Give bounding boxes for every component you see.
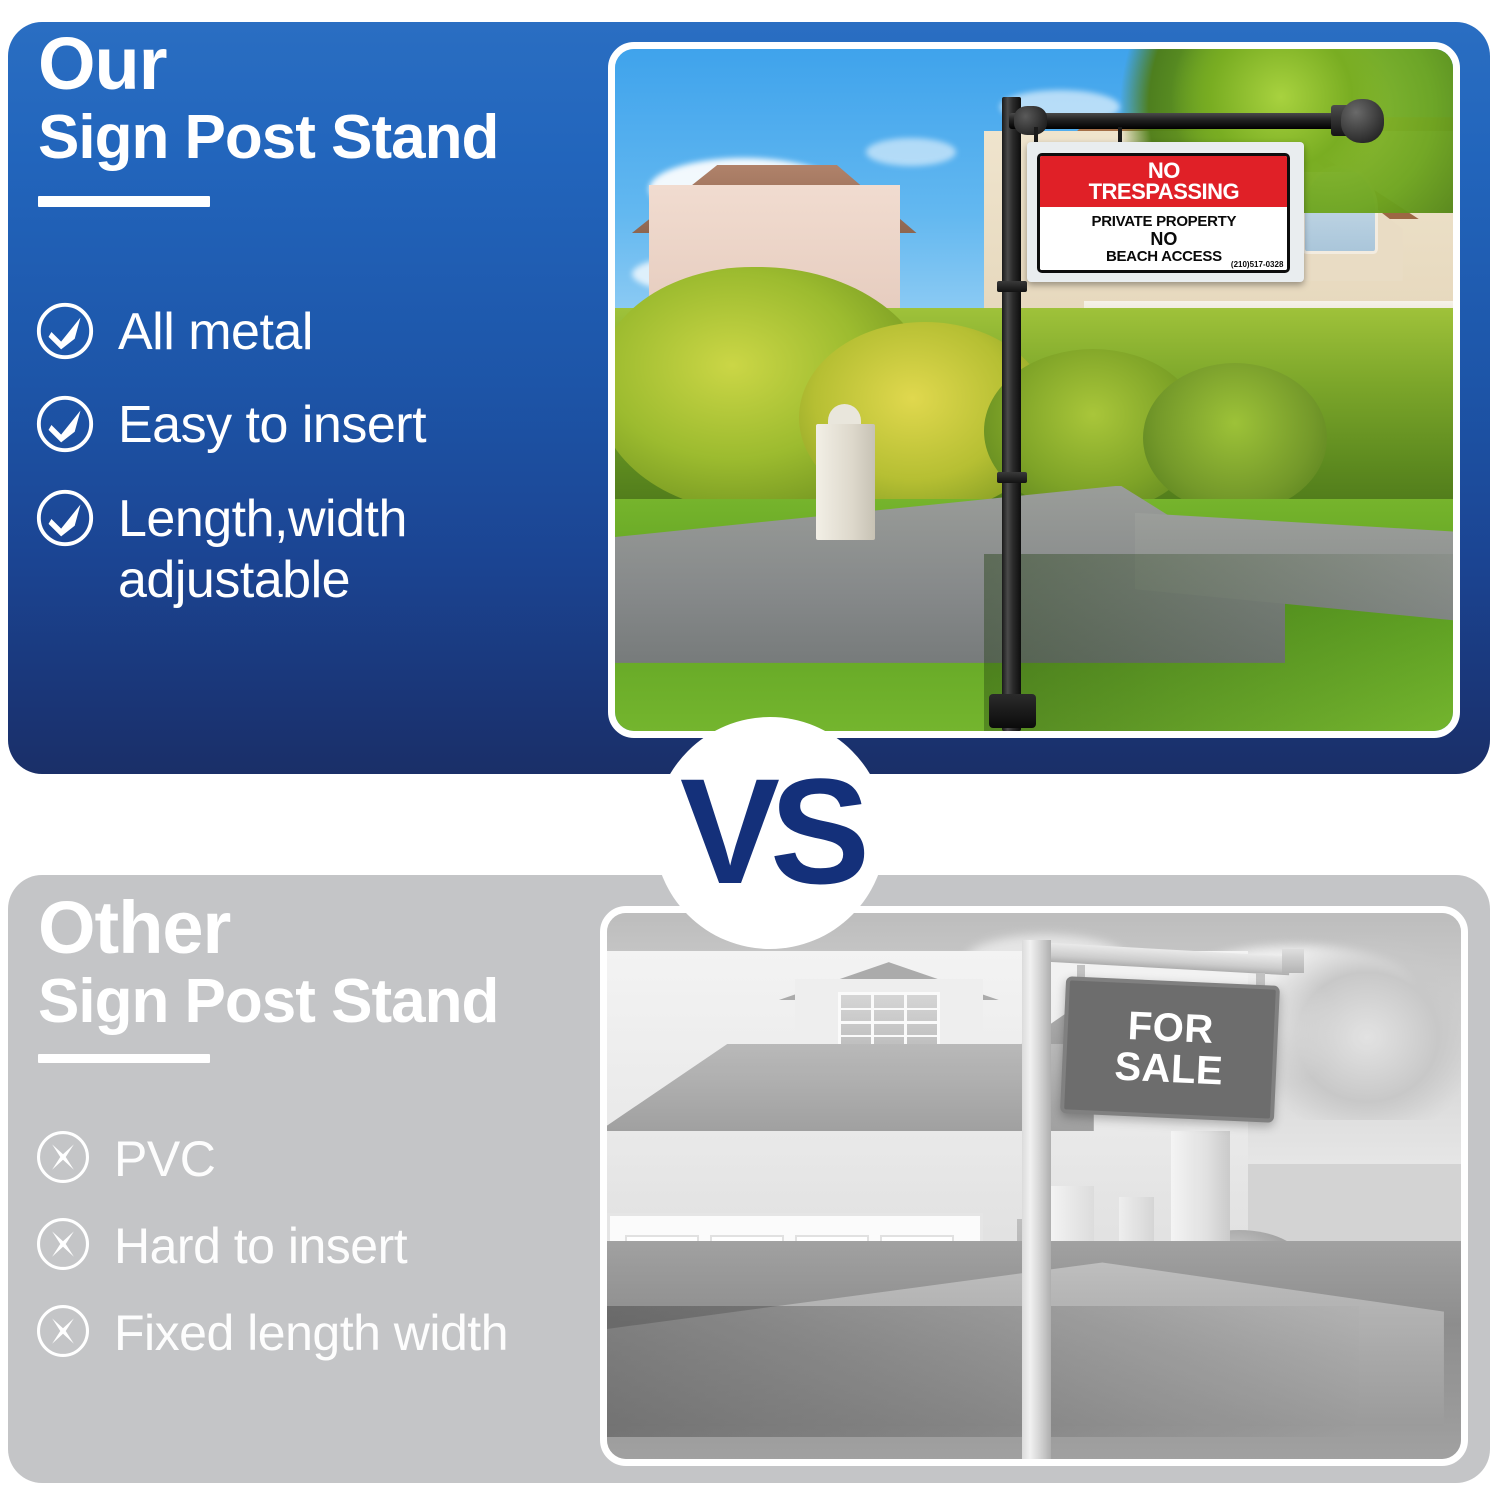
versus-badge: VS <box>654 717 886 949</box>
list-item: Hard to insert <box>34 1215 594 1276</box>
post-collar <box>997 472 1027 483</box>
x-circle-icon <box>34 1128 92 1186</box>
sign-phone-number: (210)517-0328 <box>1231 260 1283 269</box>
list-item: Fixed length width <box>34 1302 594 1363</box>
our-product-photo: NO TRESPASSING PRIVATE PROPERTY NO BEACH… <box>608 42 1460 738</box>
post-cross-arm <box>1009 113 1369 129</box>
list-item: PVC <box>34 1128 594 1189</box>
feature-label: Hard to insert <box>114 1215 407 1276</box>
dormer-window <box>838 992 940 1052</box>
list-item: Length,width adjustable <box>34 487 594 612</box>
other-panel-title: Other Sign Post Stand <box>38 892 498 1063</box>
lawn-shadow <box>607 1306 1359 1437</box>
sign-headline: NO TRESPASSING <box>1040 156 1287 207</box>
sign-body: PRIVATE PROPERTY NO BEACH ACCESS (210)51… <box>1040 207 1287 270</box>
check-circle-icon <box>34 300 96 362</box>
sign-headline-line2: TRESPASSING <box>1042 181 1285 202</box>
metal-sign-post <box>1002 97 1021 731</box>
other-title-line1: Other <box>38 892 498 965</box>
no-trespassing-sign: NO TRESPASSING PRIVATE PROPERTY NO BEACH… <box>1037 153 1290 273</box>
other-title-underline <box>38 1054 210 1063</box>
feature-label: Easy to insert <box>118 393 426 456</box>
sign-body-line1: PRIVATE PROPERTY <box>1040 213 1287 230</box>
feature-label: Length,width adjustable <box>118 487 594 612</box>
for-sale-line2: SALE <box>1114 1046 1224 1092</box>
list-item: Easy to insert <box>34 393 594 456</box>
comparison-infographic: Our Sign Post Stand All metal Easy to in… <box>0 0 1500 1500</box>
our-title-line1: Our <box>38 28 498 101</box>
our-title-line2: Sign Post Stand <box>38 105 498 171</box>
versus-label: VS <box>680 756 860 906</box>
our-title-underline <box>38 196 210 207</box>
list-item: All metal <box>34 300 594 363</box>
post-finial <box>1341 99 1385 143</box>
post-arm-knob <box>1014 106 1048 135</box>
feature-label: All metal <box>118 300 313 363</box>
post-arm-cap <box>1282 949 1304 973</box>
stone-pillar <box>1171 1131 1231 1240</box>
our-feature-list: All metal Easy to insert Length,width ad… <box>34 300 594 641</box>
lawn-shadow <box>984 554 1453 731</box>
post-base <box>989 694 1036 728</box>
for-sale-line1: FOR <box>1127 1006 1215 1051</box>
sign-headline-line1: NO <box>1042 160 1285 181</box>
feature-label: PVC <box>114 1128 215 1189</box>
stone-pillar <box>816 424 875 540</box>
cloud <box>866 138 956 166</box>
check-circle-icon <box>34 487 96 549</box>
other-feature-list: PVC Hard to insert Fixed length width <box>34 1128 594 1389</box>
for-sale-sign: FOR SALE <box>1060 976 1279 1122</box>
feature-label: Fixed length width <box>114 1302 508 1363</box>
x-circle-icon <box>34 1302 92 1360</box>
sign-body-line2: NO <box>1040 230 1287 248</box>
shrub <box>1143 363 1327 513</box>
other-product-photo: FOR SALE <box>600 906 1468 1466</box>
pvc-sign-post <box>1022 940 1051 1459</box>
post-collar <box>997 281 1027 292</box>
other-title-line2: Sign Post Stand <box>38 969 498 1035</box>
x-circle-icon <box>34 1215 92 1273</box>
check-circle-icon <box>34 393 96 455</box>
our-panel-title: Our Sign Post Stand <box>38 28 498 207</box>
